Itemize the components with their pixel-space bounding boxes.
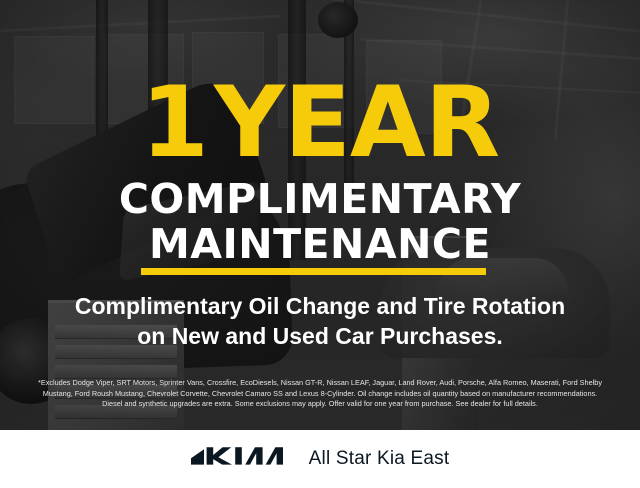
disclaimer-line-3: Diesel and synthetic upgrades are extra.… (12, 399, 628, 410)
dealer-name: All Star Kia East (309, 448, 450, 470)
disclaimer-line-2: Mustang, Ford Roush Mustang, Chevrolet C… (12, 389, 628, 400)
headline-year-word: YEAR (214, 66, 499, 180)
promo-banner: 1YEAR COMPLIMENTARY MAINTENANCE Complime… (0, 0, 640, 488)
kia-logo-icon[interactable] (191, 445, 283, 474)
headline-complimentary: COMPLIMENTARY (0, 179, 640, 220)
footer-bar: All Star Kia East (0, 430, 640, 488)
headline-maintenance: MAINTENANCE (0, 224, 640, 265)
headline-year: 1YEAR (0, 74, 640, 172)
disclaimer-line-1: *Excludes Dodge Viper, SRT Motors, Sprin… (12, 378, 628, 389)
subheadline-line-2: on New and Used Car Purchases. (0, 322, 640, 350)
disclaimer-text: *Excludes Dodge Viper, SRT Motors, Sprin… (12, 378, 628, 410)
subheadline-line-1: Complimentary Oil Change and Tire Rotati… (0, 292, 640, 320)
headline-year-number: 1 (141, 66, 208, 180)
yellow-divider-bar (141, 268, 486, 275)
banner-content: 1YEAR COMPLIMENTARY MAINTENANCE Complime… (0, 0, 640, 430)
